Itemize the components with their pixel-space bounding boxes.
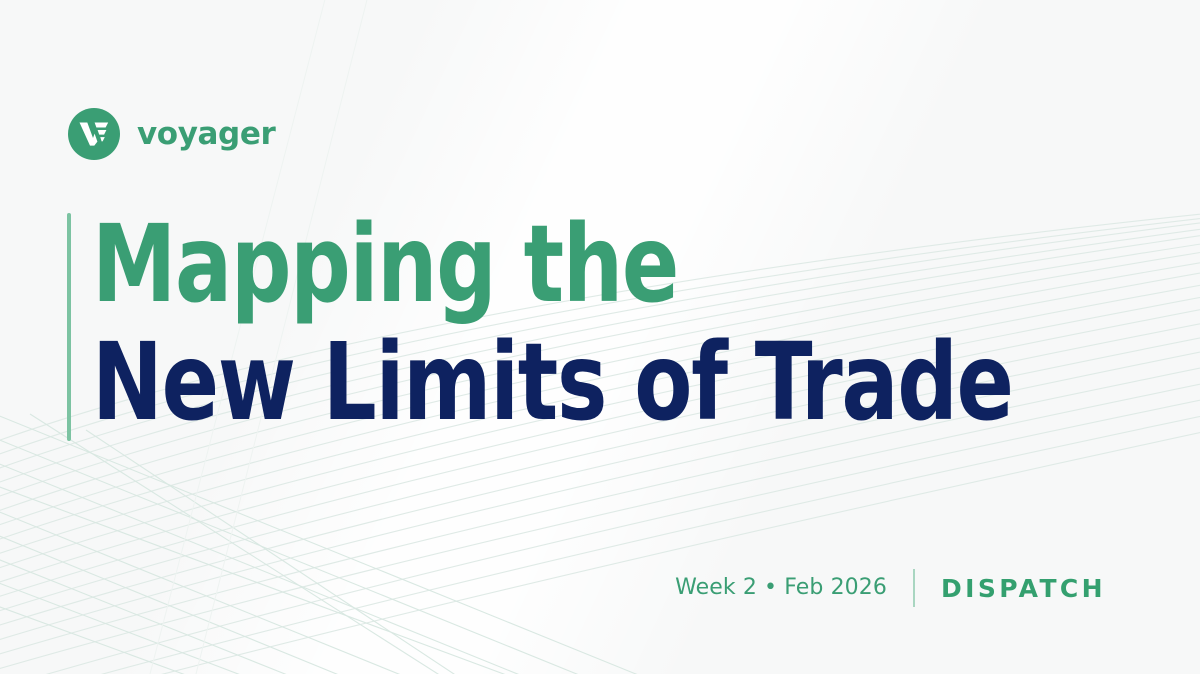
- page-title: Mapping the New Limits of Trade: [92, 206, 1152, 442]
- page-title-line-1: Mapping the: [92, 206, 1025, 324]
- dispatch-cover-banner: voyager Mapping the New Limits of Trade …: [0, 0, 1200, 674]
- headline-accent-rule: [67, 213, 71, 441]
- dispatch-label: DISPATCH: [941, 576, 1106, 601]
- page-title-line-2: New Limits of Trade: [92, 324, 1025, 442]
- brand-logo-lockup[interactable]: voyager: [68, 108, 275, 160]
- footer-meta: Week 2 • Feb 2026 DISPATCH: [675, 570, 1106, 606]
- brand-wordmark: voyager: [137, 119, 275, 150]
- issue-label: Week 2 • Feb 2026: [675, 577, 887, 599]
- footer-divider: [913, 569, 915, 607]
- voyager-v-chevron-icon: [68, 108, 120, 160]
